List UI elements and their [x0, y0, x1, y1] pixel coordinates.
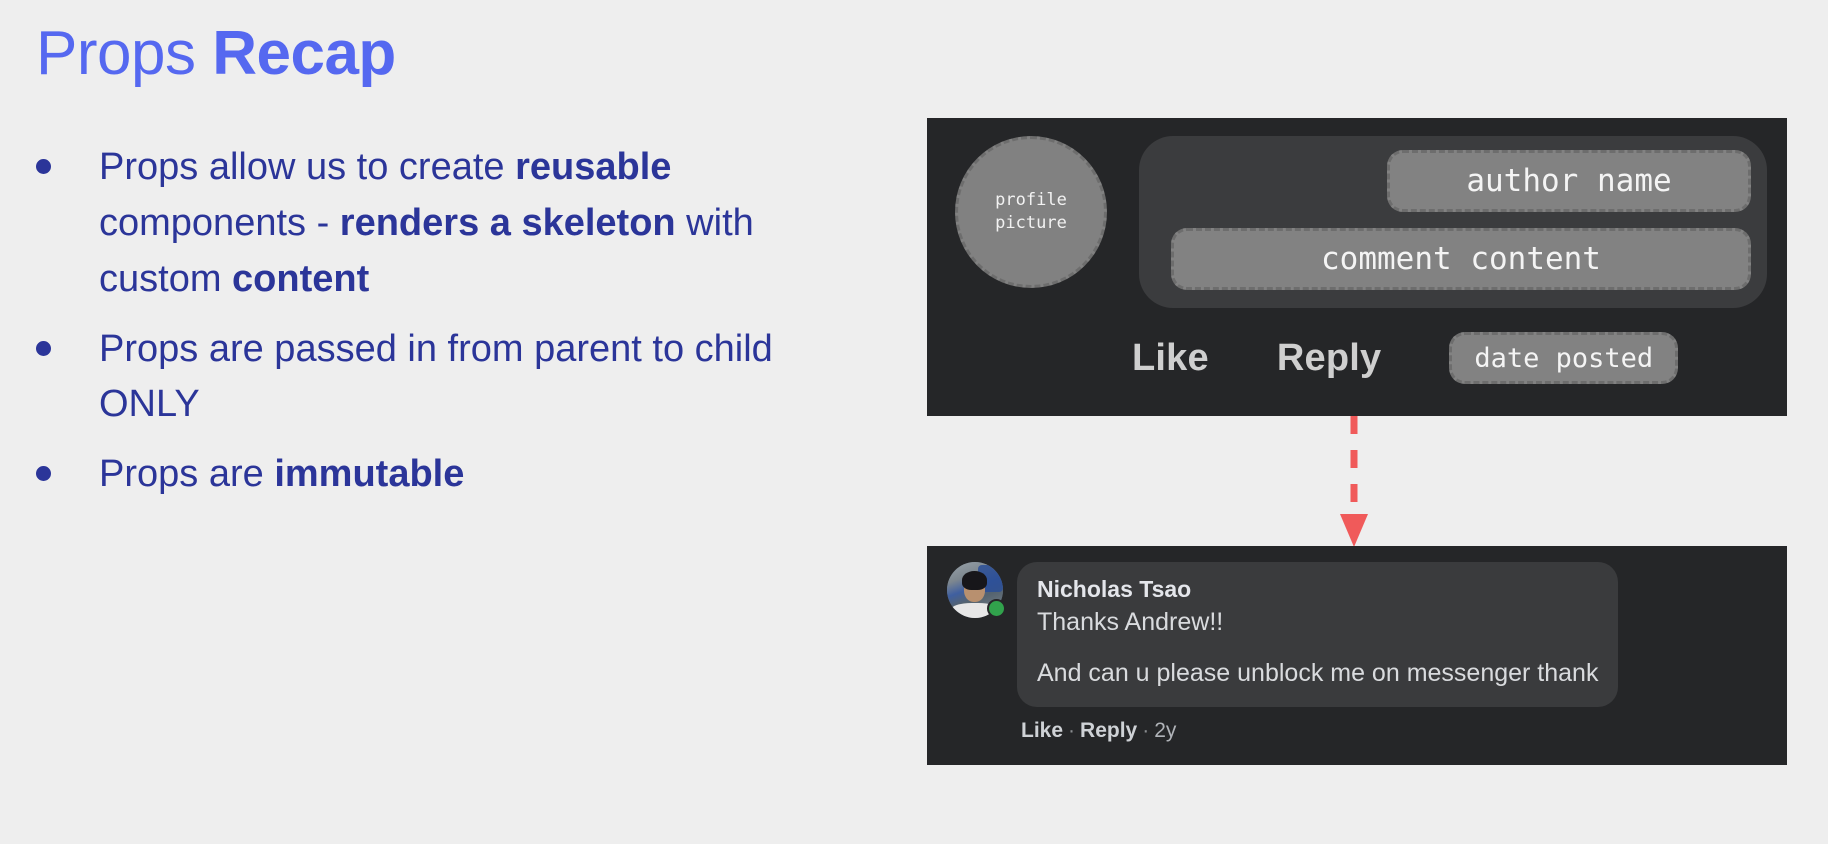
comment-like-button[interactable]: Like: [1021, 719, 1063, 742]
bullet-list: Props allow us to create reusable compon…: [36, 140, 826, 517]
online-status-indicator: [987, 599, 1006, 618]
footer-separator-1: ·: [1068, 719, 1075, 742]
bullet-segment-bold: renders a skeleton: [340, 202, 676, 244]
comment-content-placeholder: comment content: [1171, 228, 1751, 290]
page-title-light: Props: [36, 19, 195, 88]
avatar[interactable]: [947, 562, 1003, 618]
footer-separator-2: ·: [1142, 719, 1149, 742]
comment-text-line-2: And can u please unblock me on messenger…: [1037, 656, 1598, 691]
bullet-segment-bold: reusable: [515, 146, 671, 188]
author-name-placeholder: author name: [1387, 150, 1751, 212]
example-comment-panel: Nicholas Tsao Thanks Andrew!! And can u …: [927, 546, 1787, 765]
comment-bubble: Nicholas Tsao Thanks Andrew!! And can u …: [1017, 562, 1618, 707]
page-title: Props Recap: [36, 20, 396, 88]
bullet-segment-bold: content: [232, 258, 369, 300]
skeleton-comment-row: profile picture author name comment cont…: [955, 136, 1767, 308]
comment-footer: Like·Reply·2y: [1017, 717, 1618, 744]
profile-picture-placeholder: profile picture: [955, 136, 1107, 288]
skeleton-reply-button[interactable]: Reply: [1277, 337, 1381, 380]
bullet-dot-icon: [36, 341, 51, 356]
bullet-segment: components -: [99, 202, 340, 244]
skeleton-diagram-panel: profile picture author name comment cont…: [927, 118, 1787, 416]
bullet-segment: Props are: [99, 453, 274, 495]
bullet-segment: Props allow us to create: [99, 146, 515, 188]
bullet-dot-icon: [36, 159, 51, 174]
bullet-text: Props are immutable: [99, 447, 464, 503]
list-item: Props allow us to create reusable compon…: [36, 140, 826, 308]
comment-row: Nicholas Tsao Thanks Andrew!! And can u …: [947, 562, 1618, 744]
skeleton-like-button[interactable]: Like: [1132, 337, 1209, 380]
bullet-dot-icon: [36, 466, 51, 481]
flow-arrow-icon: [1337, 416, 1371, 547]
bullet-text: Props are passed in from parent to child…: [99, 322, 826, 434]
profile-picture-label-line1: profile: [995, 189, 1067, 212]
comment-text-line-1: Thanks Andrew!!: [1037, 605, 1598, 640]
bullet-segment: Props are passed in from parent to child…: [99, 328, 773, 426]
list-item: Props are passed in from parent to child…: [36, 322, 826, 434]
comment-timestamp: 2y: [1154, 719, 1176, 742]
skeleton-comment-bubble: author name comment content: [1139, 136, 1767, 308]
bullet-text: Props allow us to create reusable compon…: [99, 140, 826, 308]
comment-reply-button[interactable]: Reply: [1080, 719, 1137, 742]
page-title-bold: Recap: [212, 19, 396, 88]
profile-picture-label-line2: picture: [995, 212, 1067, 235]
list-item: Props are immutable: [36, 447, 826, 503]
date-posted-placeholder: date posted: [1449, 332, 1678, 384]
avatar-photo-hair: [962, 571, 988, 590]
bullet-segment-bold: immutable: [274, 453, 464, 495]
comment-author-name[interactable]: Nicholas Tsao: [1037, 574, 1598, 605]
comment-body: Nicholas Tsao Thanks Andrew!! And can u …: [1017, 562, 1618, 744]
skeleton-actions-row: Like Reply date posted: [1132, 332, 1678, 384]
